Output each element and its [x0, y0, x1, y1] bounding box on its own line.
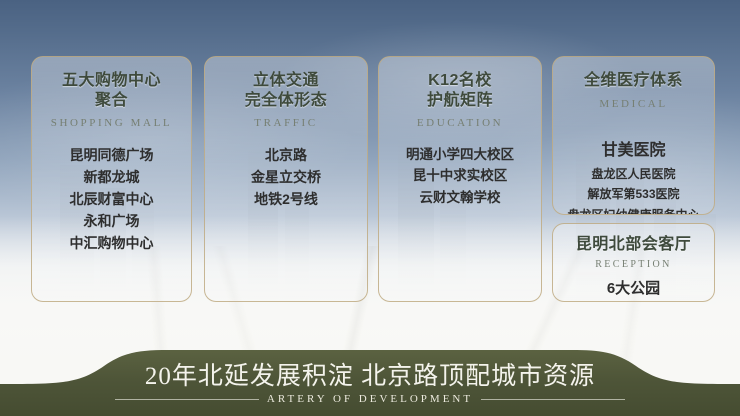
card-medical[interactable]: 全维医疗体系 MEDICAL 甘美医院盘龙区人民医院 解放军第533医院 盘龙区… [552, 56, 715, 215]
banner-subtitle-row: ARTERY OF DEVELOPMENT [115, 393, 625, 405]
card-reception[interactable]: 昆明北部会客厅 RECEPTION 6大公园 [552, 223, 715, 302]
card-title-reception: 昆明北部会客厅 [559, 235, 708, 255]
card-traffic[interactable]: 立体交通 完全体形态 TRAFFIC 北京路 金星立交桥 地铁2号线 [204, 56, 368, 302]
banner-rule-left [115, 399, 259, 400]
card-subtitle-reception: RECEPTION [559, 259, 708, 270]
card-lead-medical: 甘美医院 [559, 140, 708, 162]
card-subtitle-education: EDUCATION [385, 117, 535, 129]
banner-subtitle: ARTERY OF DEVELOPMENT [267, 393, 473, 405]
infographic-poster: 五大购物中心 聚合 SHOPPING MALL 昆明同德广场 新都龙城 北辰财富… [0, 0, 740, 416]
card-body-education: 明通小学四大校区 昆十中求实校区 云财文翰学校 [385, 144, 535, 208]
banner-title: 20年北延发展积淀 北京路顶配城市资源 [145, 363, 595, 391]
bottom-banner: 20年北延发展积淀 北京路顶配城市资源 ARTERY OF DEVELOPMEN… [0, 348, 740, 416]
card-body-shopping-mall: 昆明同德广场 新都龙城 北辰财富中心 永和广场 中汇购物中心 [38, 144, 185, 255]
card-title-shopping-mall: 五大购物中心 聚合 [38, 71, 185, 110]
banner-rule-right [481, 399, 625, 400]
card-title-traffic: 立体交通 完全体形态 [211, 71, 361, 110]
card-title-medical: 全维医疗体系 [559, 71, 708, 91]
card-body-text-medical: 盘龙区人民医院 解放军第533医院 盘龙区妇幼健康服务中心 [567, 167, 699, 215]
card-shopping-mall[interactable]: 五大购物中心 聚合 SHOPPING MALL 昆明同德广场 新都龙城 北辰财富… [31, 56, 192, 302]
card-body-traffic: 北京路 金星立交桥 地铁2号线 [211, 144, 361, 210]
card-title-education: K12名校 护航矩阵 [385, 71, 535, 110]
card-body-medical: 甘美医院盘龙区人民医院 解放军第533医院 盘龙区妇幼健康服务中心 [559, 120, 708, 215]
card-subtitle-medical: MEDICAL [559, 98, 708, 110]
card-education[interactable]: K12名校 护航矩阵 EDUCATION 明通小学四大校区 昆十中求实校区 云财… [378, 56, 542, 302]
card-body-reception: 6大公园 [559, 277, 708, 301]
card-subtitle-shopping-mall: SHOPPING MALL [38, 117, 185, 129]
card-subtitle-traffic: TRAFFIC [211, 117, 361, 129]
